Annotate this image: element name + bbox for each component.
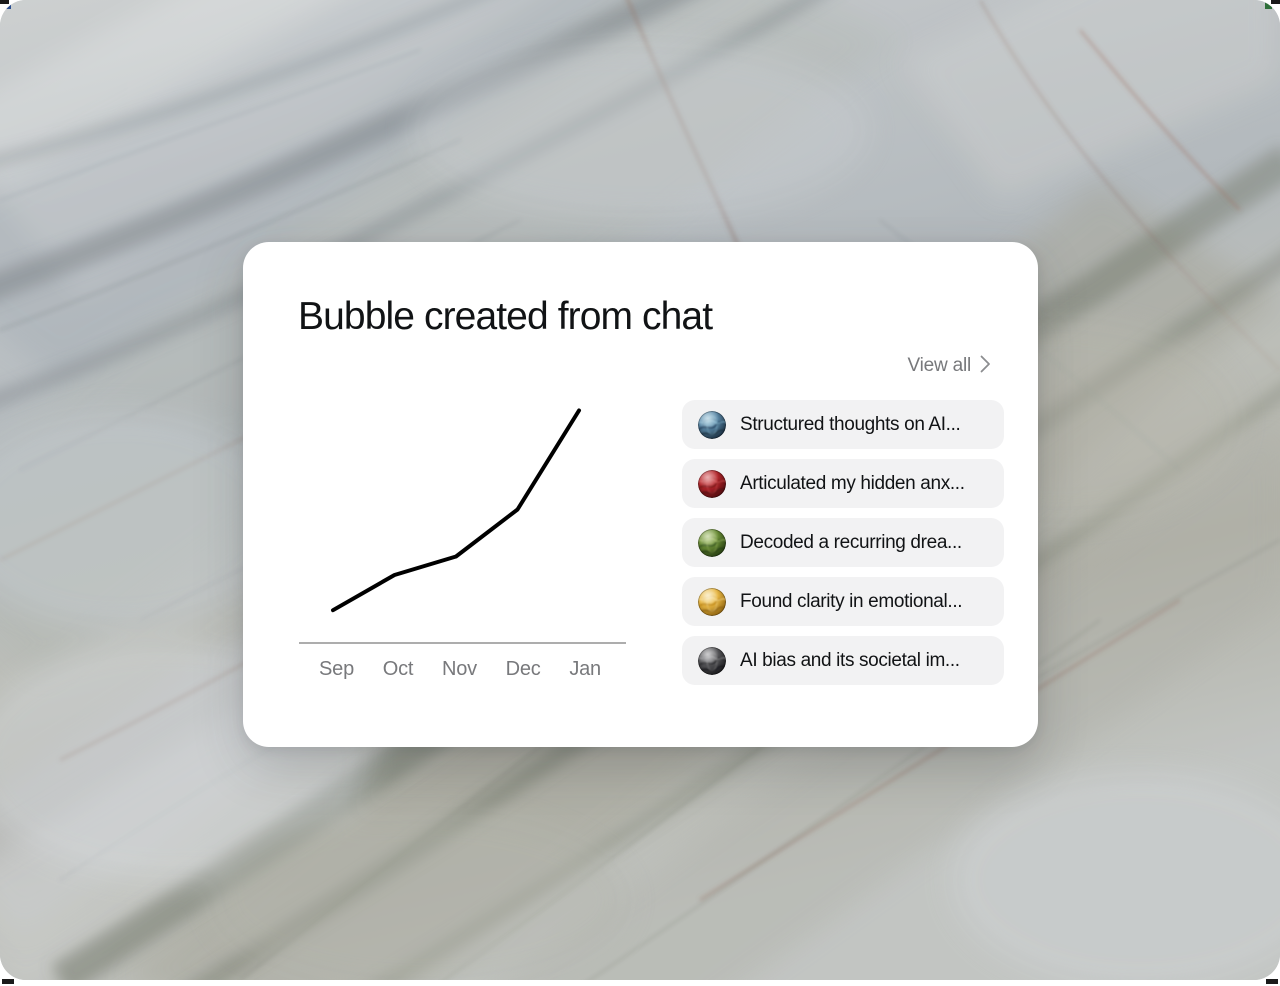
view-all-label: View all (907, 355, 971, 377)
chart-tick-jan: Jan (569, 658, 601, 681)
list-item[interactable]: AI bias and its societal im... (682, 636, 1004, 685)
edge-mark-bottom-right (1266, 979, 1278, 984)
edge-mark-bottom-left (2, 979, 14, 984)
chart-tick-sep: Sep (319, 658, 354, 681)
list-item[interactable]: Decoded a recurring drea... (682, 518, 1004, 567)
black-orb-avatar (698, 647, 726, 675)
list-item[interactable]: Found clarity in emotional... (682, 577, 1004, 626)
red-orb (698, 470, 726, 498)
chart-plot-area (297, 380, 627, 645)
bubble-card: Bubble created from chat SepOctNovDecJan… (243, 242, 1038, 747)
blue-orb (698, 411, 726, 439)
list-item-label: Decoded a recurring drea... (740, 532, 962, 554)
gold-orb-avatar (698, 588, 726, 616)
chart-x-axis (299, 642, 626, 644)
chart-line-svg (297, 380, 627, 645)
gold-orb (698, 588, 726, 616)
edge-mark-top-left (0, 0, 9, 4)
bubble-list-panel: View all (682, 352, 1004, 685)
bubble-list: Structured thoughts on AI... Articulat (682, 400, 1004, 685)
page-title: Bubble created from chat (298, 295, 712, 339)
chart-tick-dec: Dec (506, 658, 541, 681)
chart-x-tick-labels: SepOctNovDecJan (297, 658, 627, 681)
green-orb (698, 529, 726, 557)
edge-mark-top-right (1271, 0, 1280, 4)
chart-data-line (333, 411, 579, 611)
list-item-label: Structured thoughts on AI... (740, 414, 960, 436)
list-item-label: Found clarity in emotional... (740, 591, 962, 613)
list-item-label: AI bias and its societal im... (740, 650, 960, 672)
list-item-label: Articulated my hidden anx... (740, 473, 965, 495)
blue-orb-avatar (698, 411, 726, 439)
view-all-button[interactable]: View all (682, 352, 1004, 380)
list-item[interactable]: Articulated my hidden anx... (682, 459, 1004, 508)
chart-tick-oct: Oct (383, 658, 414, 681)
red-orb-avatar (698, 470, 726, 498)
chevron-right-icon (980, 355, 991, 378)
list-item[interactable]: Structured thoughts on AI... (682, 400, 1004, 449)
screen: Bubble created from chat SepOctNovDecJan… (0, 0, 1280, 986)
green-orb-avatar (698, 529, 726, 557)
activity-chart: SepOctNovDecJan (297, 380, 627, 700)
chart-tick-nov: Nov (442, 658, 477, 681)
black-orb (698, 647, 726, 675)
